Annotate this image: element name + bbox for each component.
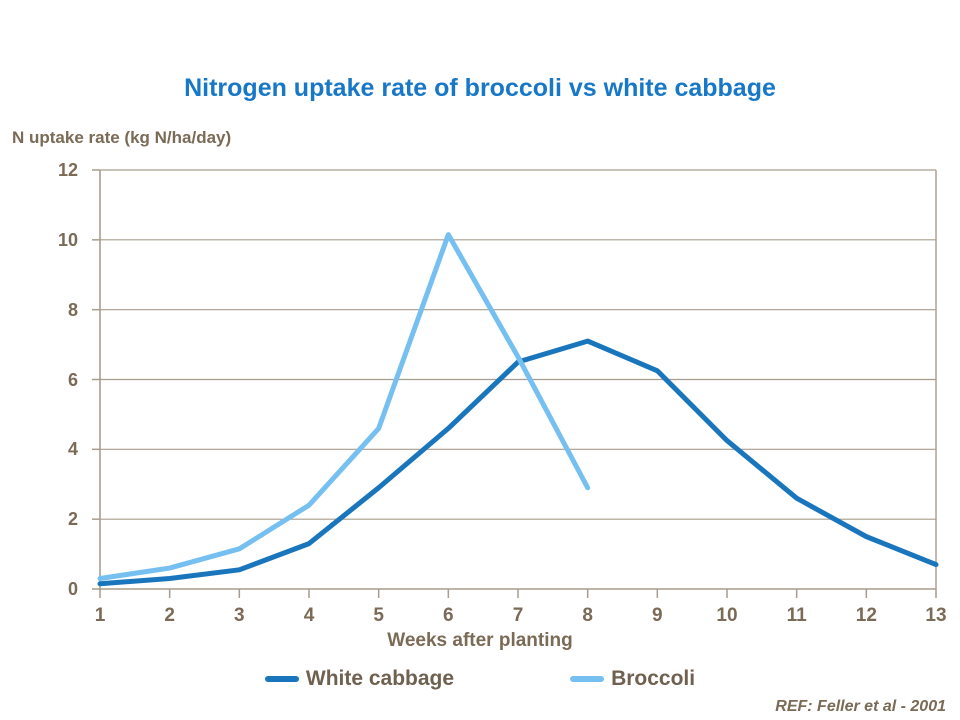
x-tick-label: 3 [219,606,259,625]
x-tick-label: 13 [916,606,956,625]
x-tick-label: 5 [359,606,399,625]
series-line-white-cabbage [100,341,936,584]
legend-swatch-icon [265,676,299,682]
y-tick-label: 0 [34,580,78,598]
legend-label: Broccoli [611,667,695,691]
x-tick-label: 4 [289,606,329,625]
x-tick-label: 7 [498,606,538,625]
x-tick-label: 8 [568,606,608,625]
reference-note: REF: Feller et al - 2001 [775,698,946,716]
series-line-broccoli [100,235,588,579]
x-tick-label: 6 [428,606,468,625]
x-tick-label: 10 [707,606,747,625]
y-tick-label: 2 [34,510,78,528]
x-tick-label: 2 [150,606,190,625]
y-tick-label: 8 [34,301,78,319]
data-series [100,235,936,584]
x-tick-label: 12 [846,606,886,625]
legend-item-broccoli[interactable]: Broccoli [570,667,695,691]
chart-canvas: Nitrogen uptake rate of broccoli vs whit… [0,0,960,720]
x-tick-label: 1 [80,606,120,625]
legend-label: White cabbage [306,667,454,691]
legend-swatch-icon [570,676,604,682]
y-tick-marks [92,170,100,589]
y-tick-label: 10 [34,231,78,249]
y-tick-label: 6 [34,371,78,389]
x-tick-label: 11 [777,606,817,625]
y-tick-label: 4 [34,440,78,458]
x-axis-title: Weeks after planting [0,630,960,652]
legend-item-white-cabbage[interactable]: White cabbage [265,667,454,691]
x-tick-label: 9 [637,606,677,625]
y-tick-label: 12 [34,161,78,179]
chart-legend: White cabbageBroccoli [0,662,960,696]
gridlines [100,170,936,519]
x-tick-marks [100,589,936,598]
